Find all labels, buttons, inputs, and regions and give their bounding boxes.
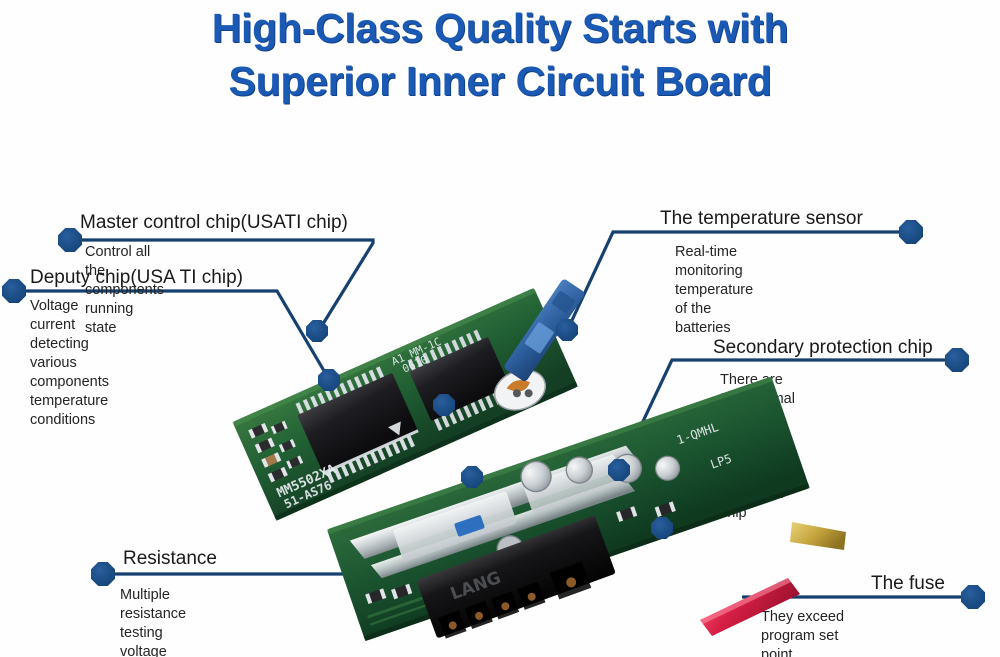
infographic-page: High-Class Quality Starts with Superior … — [0, 0, 1000, 657]
circuit-board-photo: MM5502XA 51-AS76 A1 MM-1C 0610 — [0, 0, 1000, 657]
callout-dot-master-control-chip[interactable] — [58, 228, 82, 252]
callout-dot-deputy-chip[interactable] — [2, 279, 26, 303]
